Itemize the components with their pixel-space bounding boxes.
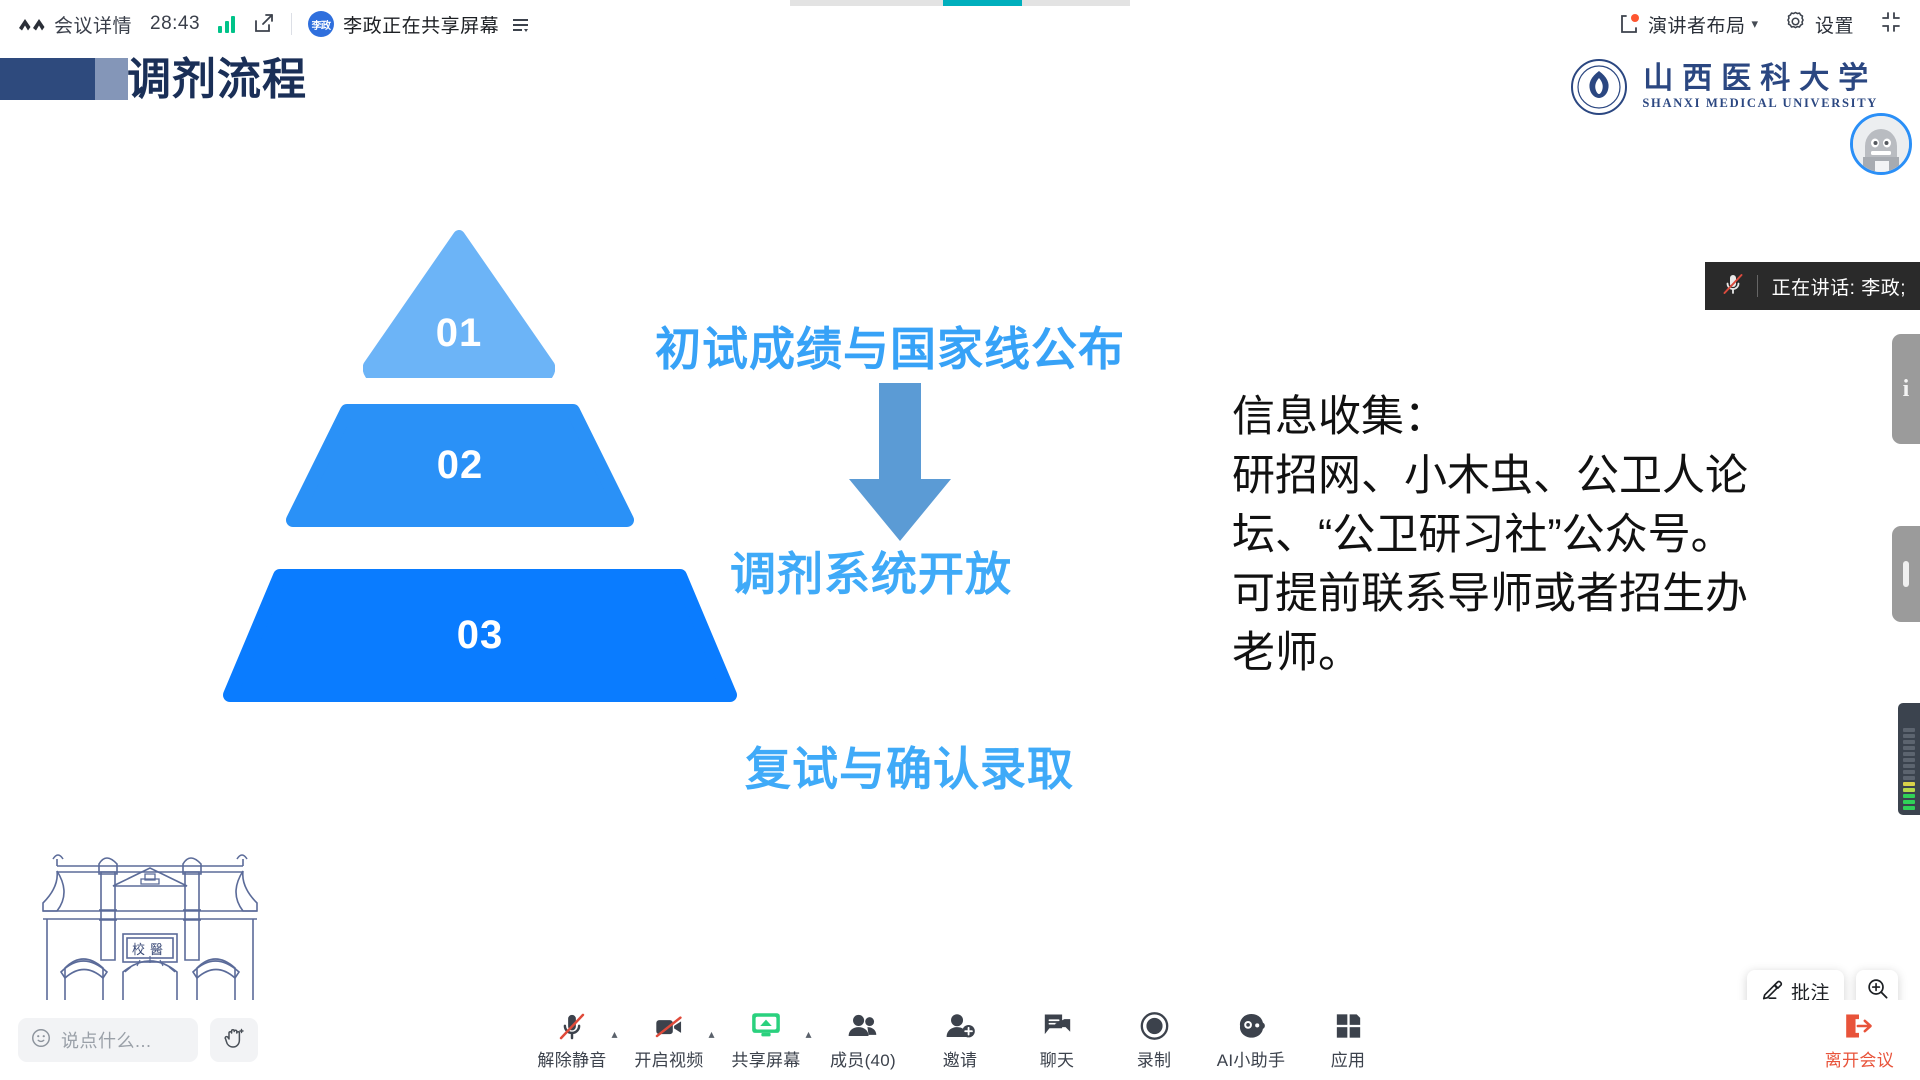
- chat-icon: [1042, 1009, 1072, 1043]
- meeting-details-label[interactable]: 会议详情: [54, 11, 132, 38]
- university-name-cn: 山西医科大学: [1643, 63, 1877, 95]
- participants-label: 成员(40): [830, 1046, 896, 1071]
- university-seal-icon: [1570, 58, 1628, 116]
- step-label-3: 复试与确认录取: [745, 733, 1074, 799]
- ai-assistant-button[interactable]: AI小助手: [1203, 1005, 1300, 1071]
- page-title: 调剂流程: [127, 56, 307, 104]
- magnifier-plus-icon: [1866, 977, 1889, 1000]
- title-bar-dark: [0, 58, 95, 100]
- leave-meeting-button[interactable]: 离开会议: [1825, 1009, 1894, 1071]
- chevron-up-icon-audio[interactable]: ▴: [611, 1027, 617, 1041]
- info-line-1: 研招网、小木虫、公卫人论: [1232, 447, 1852, 506]
- top-bar-divider: [291, 13, 292, 35]
- chat-button[interactable]: 聊天: [1009, 1005, 1106, 1071]
- bottom-center-controls: 解除静音 ▴ 开启视频 ▴: [524, 1005, 1397, 1075]
- unmute-label: 解除静音: [537, 1046, 606, 1071]
- tencent-meeting-logo-icon: [18, 13, 48, 35]
- university-name-block: 山西医科大学 SHANXI MEDICAL UNIVERSITY: [1642, 63, 1878, 111]
- invite-label: 邀请: [943, 1046, 978, 1071]
- process-pyramid-diagram: 01 02 03: [0, 228, 720, 688]
- annotate-label: 批注: [1791, 978, 1830, 1001]
- layout-label: 演讲者布局: [1648, 11, 1746, 38]
- info-heading: 信息收集：: [1232, 388, 1852, 447]
- exit-fullscreen-icon: [1880, 11, 1902, 38]
- exit-fullscreen-button[interactable]: [1880, 11, 1902, 38]
- meeting-timer: 28:43: [150, 13, 200, 35]
- bottom-left-group: 说点什么...: [18, 1018, 258, 1062]
- apps-button[interactable]: 应用: [1300, 1005, 1397, 1071]
- chevron-up-icon-video[interactable]: ▴: [708, 1027, 714, 1041]
- invite-button[interactable]: 邀请: [912, 1005, 1009, 1071]
- leave-meeting-icon: [1844, 1009, 1874, 1043]
- pyramid-number-02: 02: [437, 443, 484, 488]
- drag-handle-icon: [1903, 561, 1909, 587]
- top-bar-right-group: 演讲者布局 ▾ 设置: [1592, 10, 1902, 38]
- panel-drag-handle[interactable]: [1892, 526, 1920, 622]
- speaking-indicator: 正在讲话: 李政;: [1705, 262, 1920, 310]
- gear-icon: [1784, 10, 1807, 38]
- camera-off-icon: [653, 1009, 686, 1043]
- record-label: 录制: [1137, 1046, 1172, 1071]
- share-screen-label: 共享屏幕: [731, 1046, 800, 1071]
- info-line-2: 坛、“公卫研习社”公众号。: [1232, 506, 1852, 565]
- chat-label: 聊天: [1040, 1046, 1075, 1071]
- raise-hand-icon: [222, 1026, 246, 1055]
- annotate-button[interactable]: 批注: [1747, 970, 1844, 1000]
- title-bar-light: [95, 58, 128, 100]
- share-screen-icon: [750, 1009, 783, 1043]
- volume-meter-icon: [1898, 703, 1920, 815]
- popout-window-icon[interactable]: [253, 13, 275, 35]
- meeting-top-bar: 会议详情 28:43 李政 李政正在共享屏幕: [0, 0, 1920, 48]
- shared-screen-slide: 调剂流程 山西医科大学 SHANXI MEDICAL UNIVERSITY 01: [0, 48, 1920, 1000]
- record-icon: [1139, 1009, 1169, 1043]
- start-video-label: 开启视频: [634, 1046, 703, 1071]
- leave-meeting-label: 离开会议: [1825, 1046, 1894, 1071]
- mic-muted-icon: [1721, 272, 1745, 301]
- down-arrow-icon: [845, 383, 955, 543]
- zoom-in-button[interactable]: [1856, 970, 1898, 1000]
- pyramid-level-2-number: 02: [285, 403, 635, 528]
- participants-button[interactable]: 成员(40): [815, 1005, 912, 1071]
- settings-button[interactable]: 设置: [1784, 10, 1854, 38]
- speaking-divider: [1757, 275, 1758, 297]
- pyramid-number-03: 03: [457, 613, 504, 658]
- progress-segment-left: [790, 0, 943, 6]
- speaking-text: 正在讲话: 李政;: [1772, 273, 1906, 300]
- university-logo: 山西医科大学 SHANXI MEDICAL UNIVERSITY: [1570, 58, 1878, 116]
- say-something-placeholder: 说点什么...: [61, 1027, 152, 1053]
- university-name-en: SHANXI MEDICAL UNIVERSITY: [1642, 95, 1878, 111]
- info-icon: i: [1903, 376, 1910, 403]
- info-line-3: 可提前联系导师或者招生办: [1232, 565, 1852, 624]
- pencil-annotate-icon: [1761, 978, 1783, 1001]
- pyramid-level-3-number: 03: [222, 568, 738, 703]
- mic-muted-icon: [557, 1009, 588, 1043]
- apps-label: 应用: [1331, 1046, 1366, 1071]
- record-button[interactable]: 录制: [1106, 1005, 1203, 1071]
- info-line-4: 老师。: [1232, 624, 1852, 683]
- settings-label: 设置: [1815, 11, 1854, 38]
- meeting-bottom-bar: 说点什么... 解除静音 ▴: [0, 1000, 1920, 1080]
- pyramid-number-01: 01: [436, 311, 483, 356]
- share-screen-button[interactable]: 共享屏幕 ▴: [718, 1005, 815, 1071]
- list-menu-icon[interactable]: [511, 14, 531, 34]
- top-progress-indicator: [790, 0, 1130, 6]
- layout-switch-button[interactable]: 演讲者布局 ▾: [1618, 11, 1758, 38]
- sharing-status-label: 李政正在共享屏幕: [343, 11, 499, 38]
- chevron-up-icon-share[interactable]: ▴: [805, 1027, 811, 1041]
- start-video-button[interactable]: 开启视频 ▴: [621, 1005, 718, 1071]
- ai-assistant-label: AI小助手: [1217, 1046, 1286, 1071]
- progress-segment-active: [943, 0, 1022, 6]
- chevron-down-icon: ▾: [1751, 16, 1758, 32]
- campus-building-illustration-icon: 校醫: [35, 826, 265, 1000]
- info-side-tab[interactable]: i: [1892, 334, 1920, 444]
- smiley-icon[interactable]: [30, 1027, 52, 1054]
- unmute-button[interactable]: 解除静音 ▴: [524, 1005, 621, 1071]
- raise-hand-button[interactable]: [210, 1018, 258, 1062]
- step-label-1: 初试成绩与国家线公布: [655, 313, 1125, 379]
- progress-segment-right: [1022, 0, 1130, 6]
- title-accent-bars: [0, 58, 128, 100]
- say-something-input[interactable]: 说点什么...: [18, 1018, 198, 1062]
- ai-assistant-icon: [1235, 1009, 1267, 1043]
- invite-user-icon: [945, 1009, 975, 1043]
- self-video-avatar[interactable]: [1850, 113, 1912, 175]
- svg-text:校醫: 校醫: [132, 942, 168, 958]
- info-text-block: 信息收集： 研招网、小木虫、公卫人论 坛、“公卫研习社”公众号。 可提前联系导师…: [1232, 388, 1852, 683]
- sharer-avatar: 李政: [308, 11, 334, 37]
- signal-bars-icon[interactable]: [218, 15, 235, 33]
- pyramid-level-1-number: 01: [363, 230, 555, 378]
- top-bar-left-group: 会议详情 28:43 李政 李政正在共享屏幕: [18, 11, 531, 38]
- annotation-controls: 批注: [1747, 970, 1898, 1000]
- participants-icon: [848, 1009, 879, 1043]
- speaker-layout-icon: [1618, 13, 1640, 35]
- apps-grid-icon: [1334, 1009, 1362, 1043]
- step-label-2: 调剂系统开放: [730, 538, 1012, 604]
